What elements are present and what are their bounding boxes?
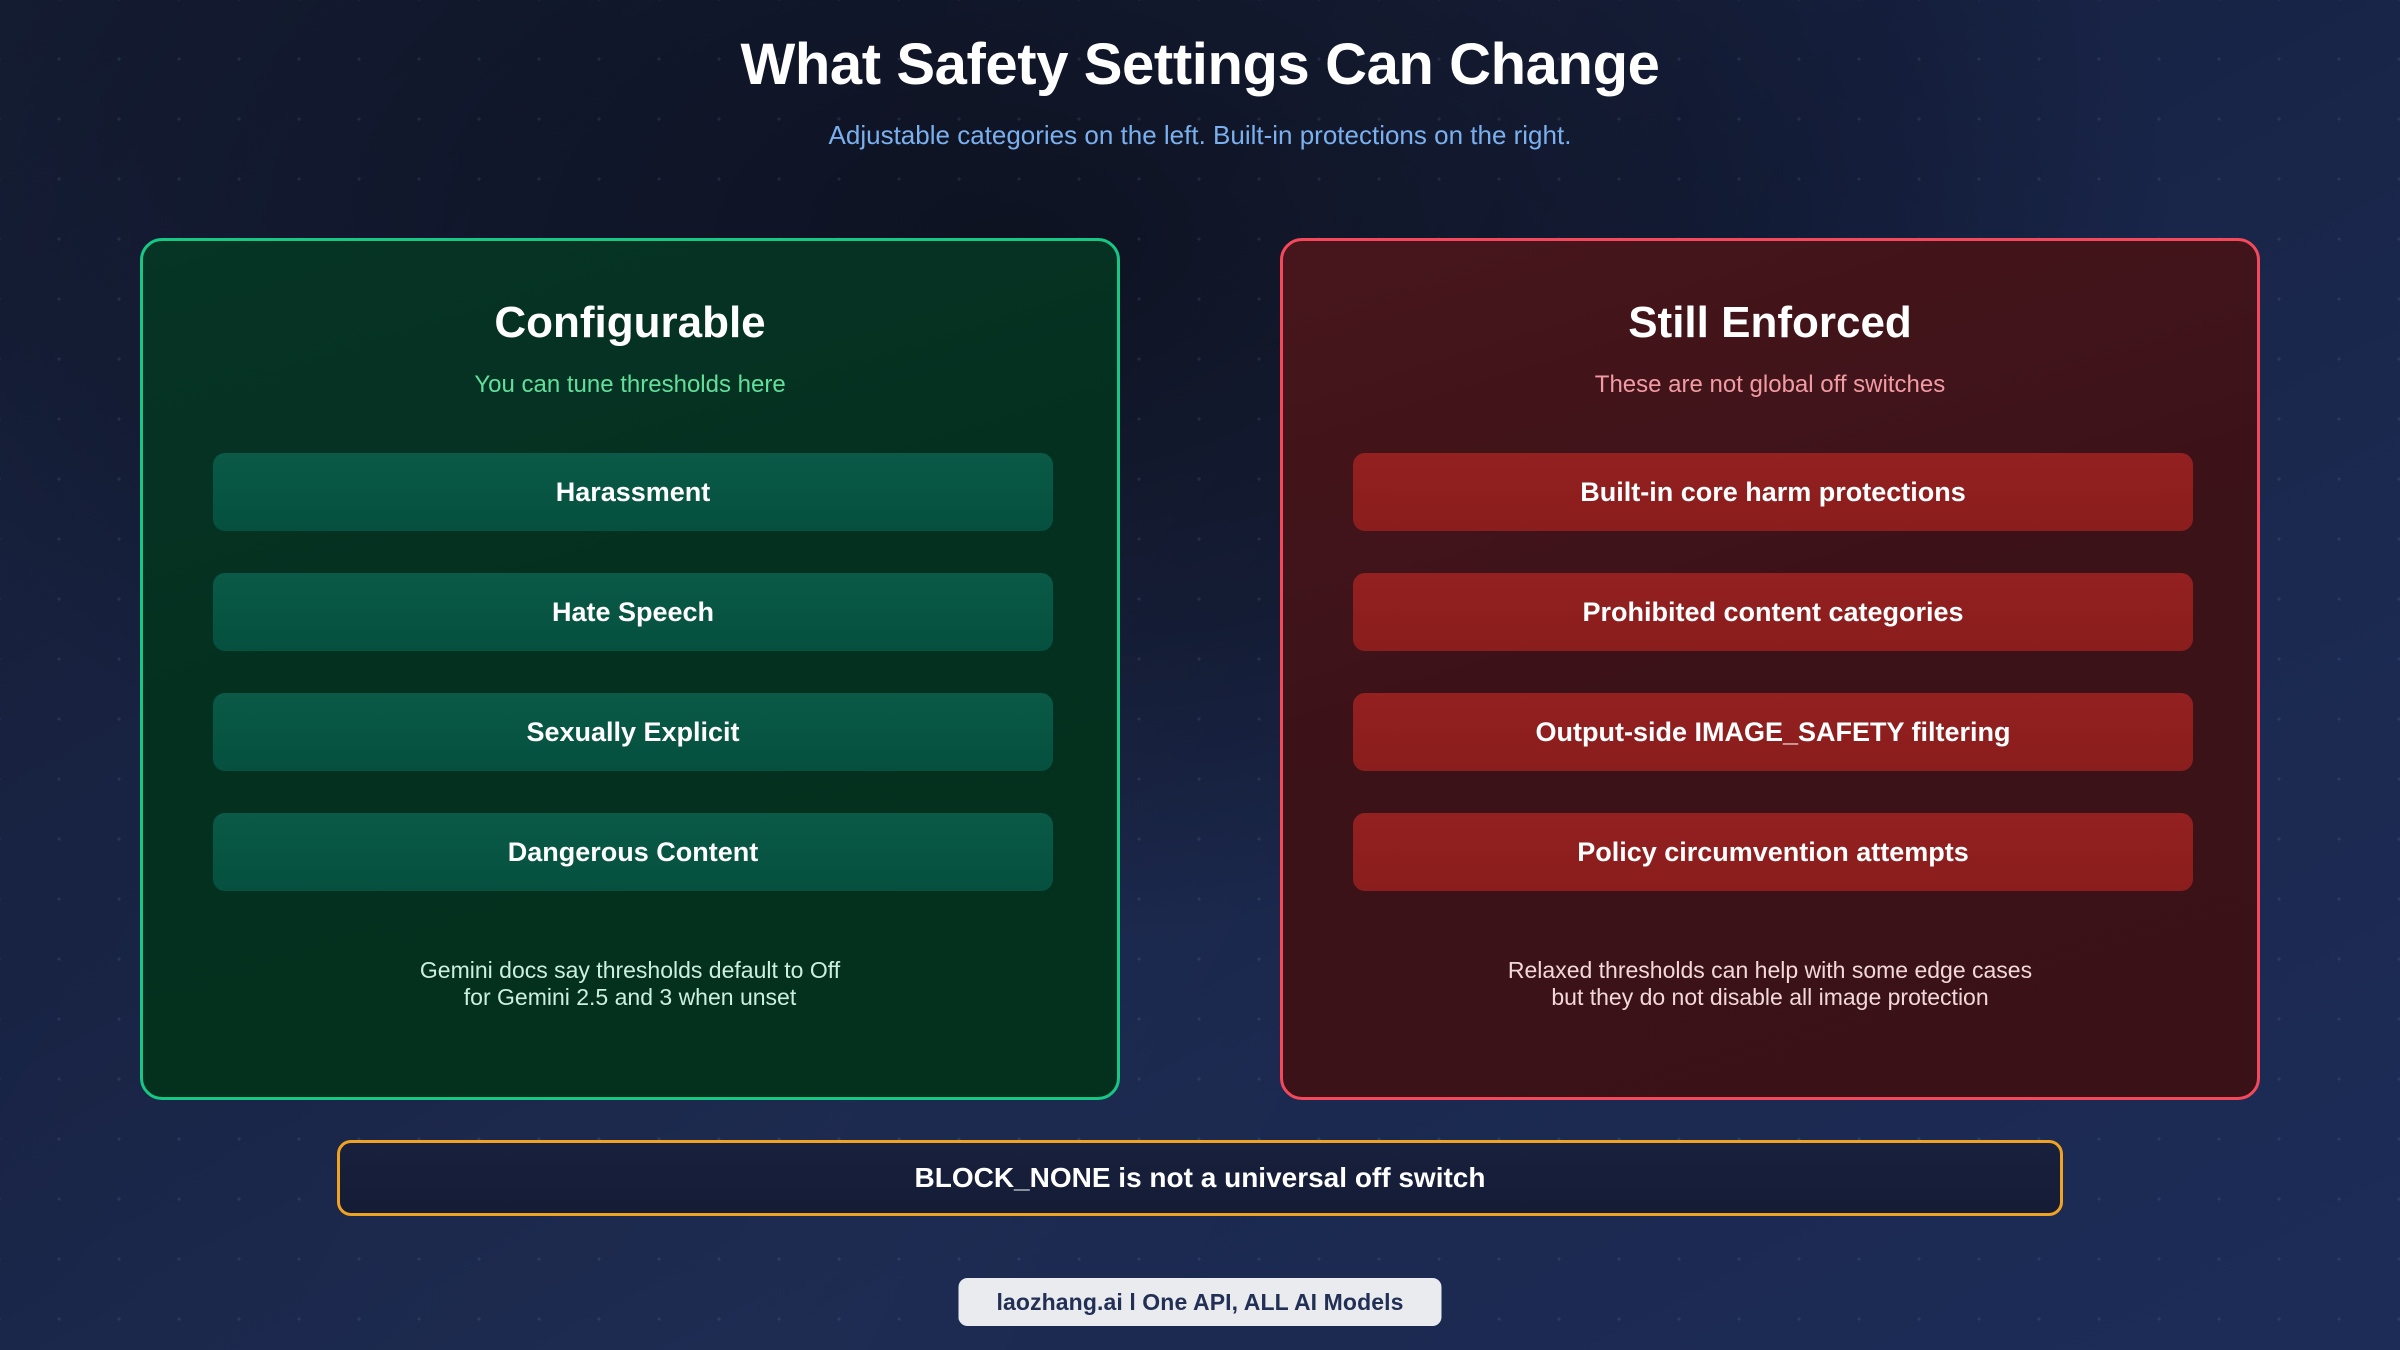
card-enforced: Still Enforced These are not global off … bbox=[1280, 238, 2260, 1100]
list-item[interactable]: Hate Speech bbox=[213, 573, 1053, 651]
list-item[interactable]: Sexually Explicit bbox=[213, 693, 1053, 771]
list-item[interactable]: Harassment bbox=[213, 453, 1053, 531]
list-item[interactable]: Policy circumvention attempts bbox=[1353, 813, 2193, 891]
card-configurable-title: Configurable bbox=[143, 298, 1117, 348]
card-configurable: Configurable You can tune thresholds her… bbox=[140, 238, 1120, 1100]
list-item[interactable]: Output-side IMAGE_SAFETY filtering bbox=[1353, 693, 2193, 771]
card-enforced-note: Relaxed thresholds can help with some ed… bbox=[1283, 957, 2257, 1011]
list-item[interactable]: Dangerous Content bbox=[213, 813, 1053, 891]
card-enforced-title: Still Enforced bbox=[1283, 298, 2257, 348]
list-item[interactable]: Built-in core harm protections bbox=[1353, 453, 2193, 531]
configurable-item-list: Harassment Hate Speech Sexually Explicit… bbox=[213, 453, 1053, 891]
enforced-item-list: Built-in core harm protections Prohibite… bbox=[1353, 453, 2193, 891]
slide-canvas: What Safety Settings Can Change Adjustab… bbox=[0, 0, 2400, 1350]
watermark-badge: laozhang.ai l One API, ALL AI Models bbox=[959, 1278, 1442, 1326]
page-title: What Safety Settings Can Change bbox=[0, 32, 2400, 99]
card-configurable-note: Gemini docs say thresholds default to Of… bbox=[143, 957, 1117, 1011]
callout-banner: BLOCK_NONE is not a universal off switch bbox=[337, 1140, 2063, 1216]
card-configurable-subtitle: You can tune thresholds here bbox=[143, 371, 1117, 399]
list-item[interactable]: Prohibited content categories bbox=[1353, 573, 2193, 651]
page-subtitle: Adjustable categories on the left. Built… bbox=[0, 120, 2400, 151]
card-enforced-subtitle: These are not global off switches bbox=[1283, 371, 2257, 399]
